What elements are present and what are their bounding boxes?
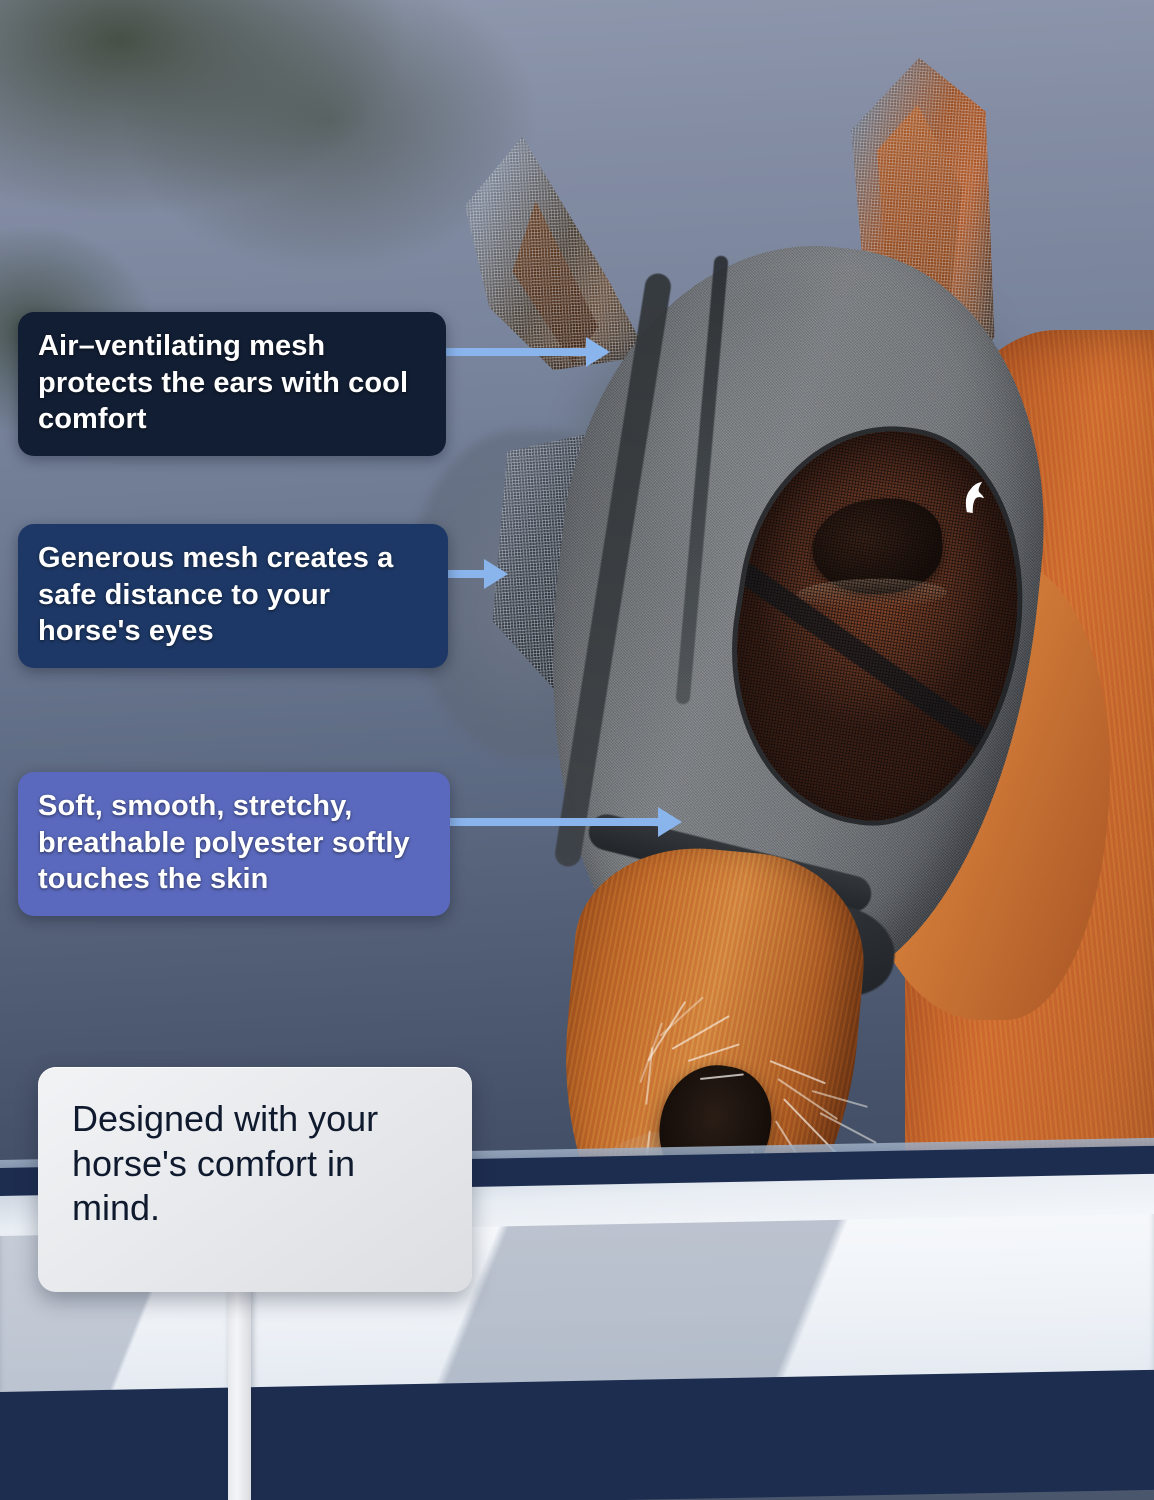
sign-post (228, 1288, 251, 1500)
callout-generous-mesh: Generous mesh creates a safe distance to… (18, 524, 448, 668)
infographic-canvas: Air–ventilating mesh protects the ears w… (0, 0, 1154, 1500)
fly-mask-ear-left-mesh-texture (454, 130, 656, 375)
arrow-right-icon-3 (440, 818, 662, 826)
sign-text: Designed with your horse's comfort in mi… (72, 1097, 438, 1231)
horse-head-logo-icon (960, 478, 988, 515)
arrow-right-icon-1 (440, 348, 590, 356)
callout-soft-breathable-polyester: Soft, smooth, stretchy, breathable polye… (18, 772, 450, 916)
floor-navy-band (0, 1370, 1154, 1500)
callout-air-ventilating-mesh: Air–ventilating mesh protects the ears w… (18, 312, 446, 456)
sign-placard: Designed with your horse's comfort in mi… (38, 1067, 472, 1292)
